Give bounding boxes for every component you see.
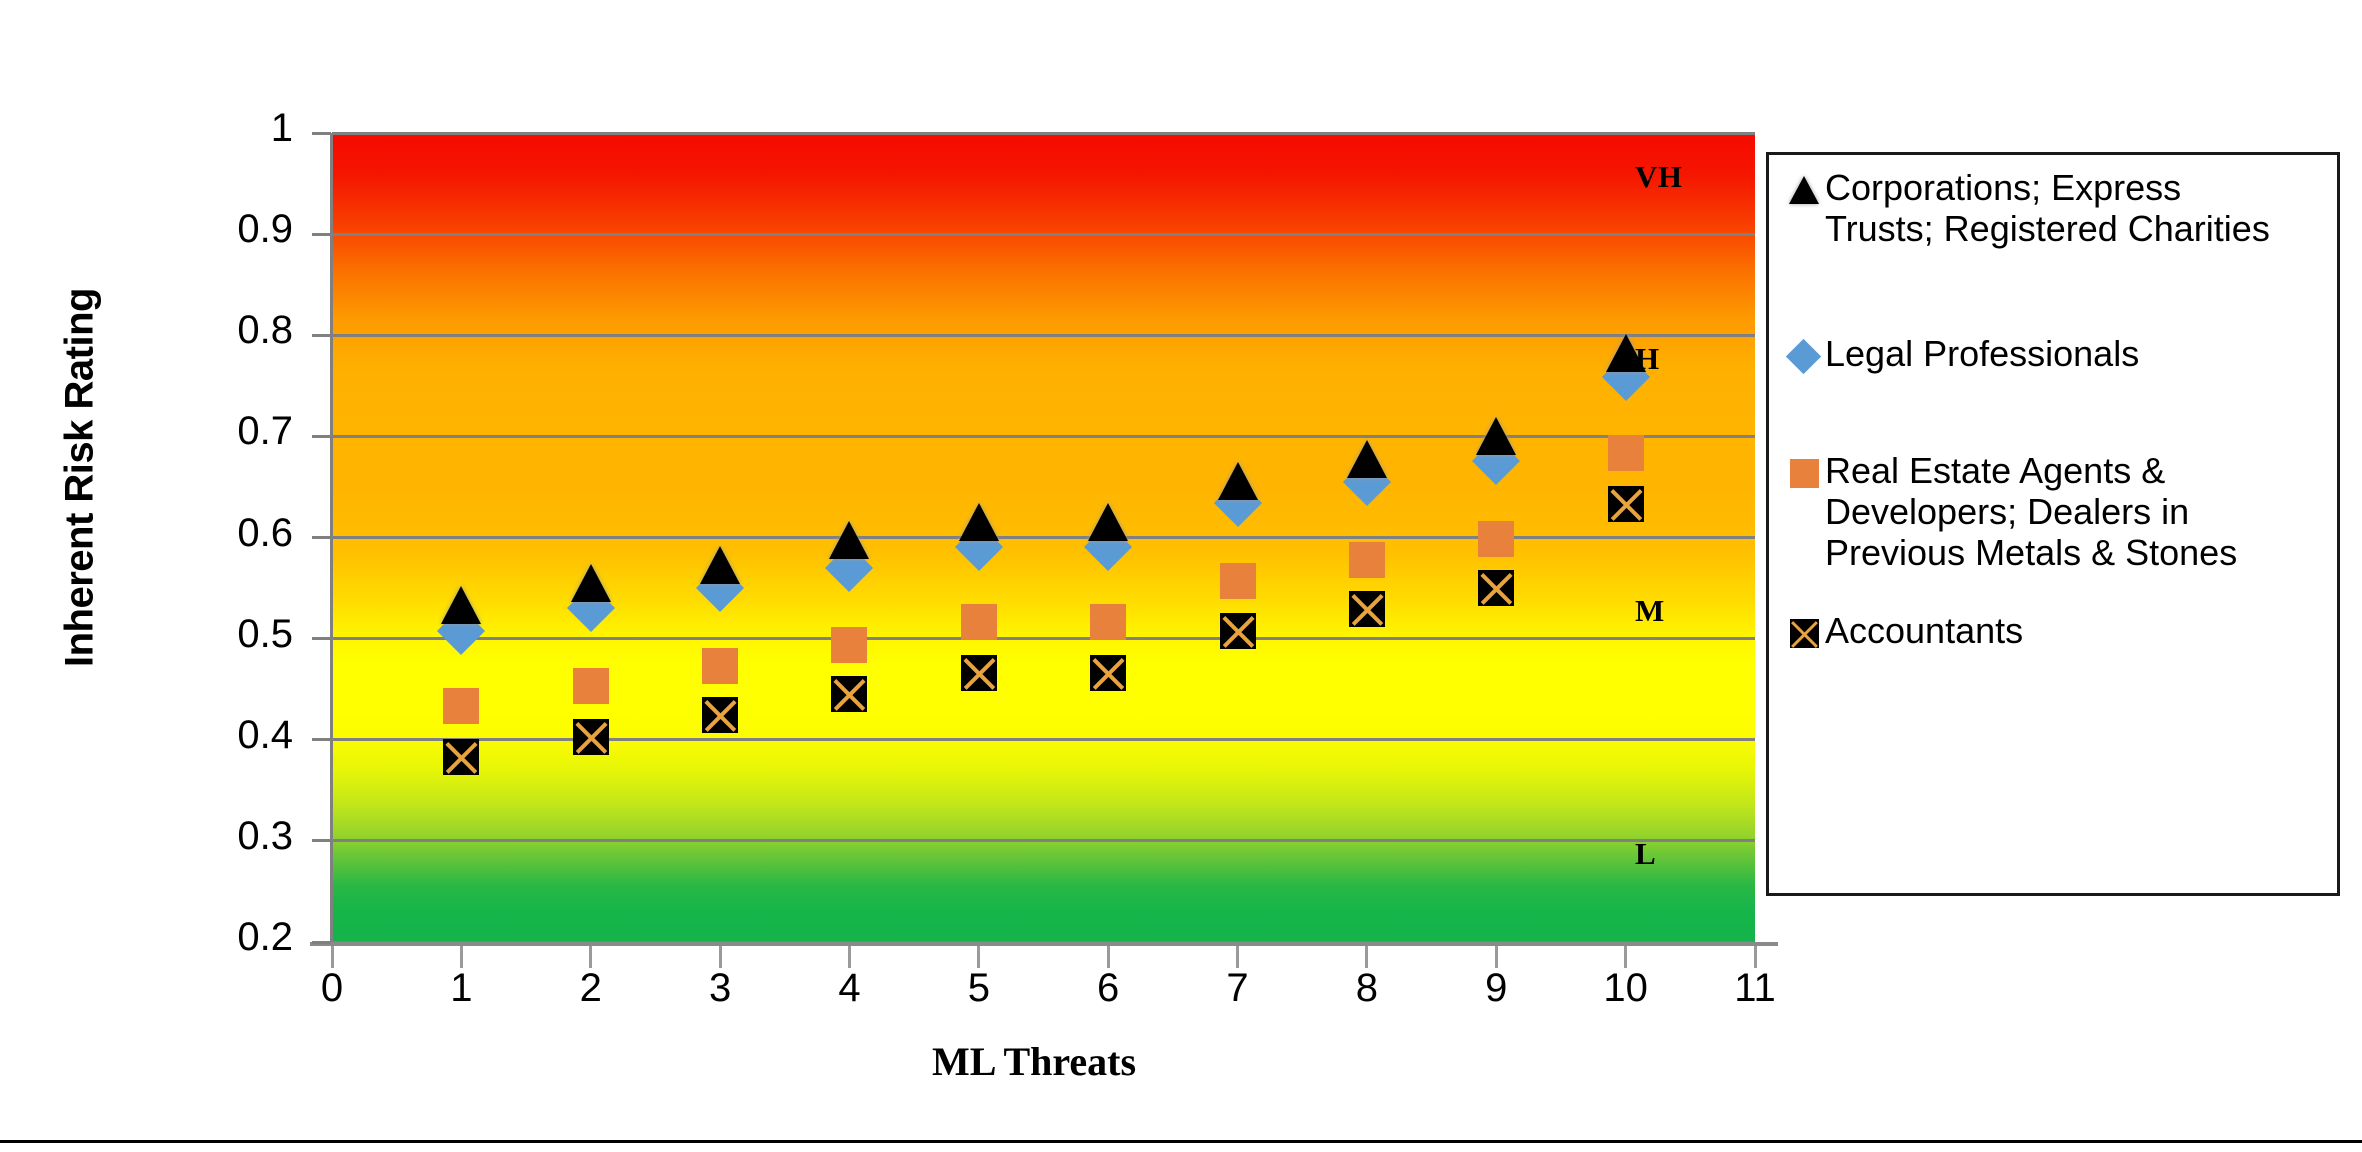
marker-square xyxy=(1478,521,1514,557)
x-square-marker-icon xyxy=(1787,614,1821,648)
y-axis-tick-label: 0.7 xyxy=(237,409,293,454)
y-axis-tick xyxy=(312,334,331,337)
legend-item[interactable]: Legal Professionals xyxy=(1787,333,2325,374)
legend-item[interactable]: Corporations; Express Trusts; Registered… xyxy=(1787,167,2325,249)
legend-item-label: Legal Professionals xyxy=(1825,333,2139,374)
x-axis-tick xyxy=(460,946,463,968)
marker-x-square xyxy=(1608,486,1644,522)
marker-square xyxy=(443,688,479,724)
y-axis-tick xyxy=(312,738,331,741)
marker-x-square xyxy=(443,739,479,775)
gridline xyxy=(332,435,1755,438)
y-axis-tick xyxy=(312,839,331,842)
marker-square xyxy=(1349,542,1385,578)
marker-square xyxy=(831,627,867,663)
legend-item-label: Accountants xyxy=(1825,610,2023,651)
legend-item[interactable]: Real Estate Agents & Developers; Dealers… xyxy=(1787,450,2325,573)
gridline xyxy=(332,536,1755,539)
x-axis-tick-label: 2 xyxy=(551,966,631,1011)
risk-band-label-vh: VH xyxy=(1635,159,1683,195)
x-axis-tick-label: 4 xyxy=(809,966,889,1011)
marker-x-square xyxy=(1220,613,1256,649)
y-axis-tick xyxy=(312,536,331,539)
x-axis-tick xyxy=(1754,946,1757,968)
y-axis-tick xyxy=(312,435,331,438)
square-marker-icon-shape xyxy=(1790,459,1819,488)
marker-square xyxy=(961,604,997,640)
x-axis-tick xyxy=(1365,946,1368,968)
y-axis-tick xyxy=(312,233,331,236)
gridline xyxy=(332,738,1755,741)
diamond-marker-icon-shape xyxy=(1786,339,1821,374)
marker-triangle xyxy=(1218,462,1258,500)
y-axis-title: Inherent Risk Rating xyxy=(58,198,103,758)
marker-x-square xyxy=(1478,570,1514,606)
plot-area: VHHML xyxy=(332,133,1755,942)
y-axis-line xyxy=(330,133,333,945)
gridline xyxy=(332,132,1755,135)
x-axis-tick-label: 1 xyxy=(421,966,501,1011)
marker-x-square xyxy=(573,719,609,755)
risk-scatter-chart: Inherent Risk Rating ML Threats VHHML 0.… xyxy=(0,0,2362,1152)
y-axis-tick-label: 0.9 xyxy=(237,207,293,252)
x-axis-tick-label: 9 xyxy=(1456,966,1536,1011)
marker-x-square xyxy=(1090,655,1126,691)
x-axis-tick xyxy=(1236,946,1239,968)
x-axis-tick-label: 3 xyxy=(680,966,760,1011)
triangle-marker-icon xyxy=(1787,171,1821,205)
x-square-marker-icon-shape xyxy=(1790,619,1819,648)
x-axis-tick-label: 11 xyxy=(1715,966,1795,1011)
marker-square xyxy=(573,668,609,704)
legend-item-label: Real Estate Agents & Developers; Dealers… xyxy=(1825,450,2237,573)
x-axis-tick-label: 10 xyxy=(1586,966,1666,1011)
marker-x-square xyxy=(702,697,738,733)
x-axis-tick xyxy=(1624,946,1627,968)
marker-square xyxy=(1608,435,1644,471)
x-axis-tick-label: 5 xyxy=(939,966,1019,1011)
marker-x-square xyxy=(831,676,867,712)
gridline xyxy=(332,839,1755,842)
y-axis-tick-label: 0.6 xyxy=(237,511,293,556)
triangle-marker-icon-shape xyxy=(1789,176,1819,204)
gridline xyxy=(332,637,1755,640)
marker-square xyxy=(1090,604,1126,640)
marker-triangle xyxy=(1088,503,1128,541)
y-axis-tick-label: 0.4 xyxy=(237,713,293,758)
square-marker-icon xyxy=(1787,454,1821,488)
marker-triangle xyxy=(1476,417,1516,455)
marker-triangle xyxy=(1347,440,1387,478)
y-axis-tick-label: 0.2 xyxy=(237,915,293,960)
marker-triangle xyxy=(700,546,740,584)
x-axis-tick xyxy=(589,946,592,968)
gridline xyxy=(332,233,1755,236)
x-axis-tick-label: 6 xyxy=(1068,966,1148,1011)
marker-x-square xyxy=(1349,591,1385,627)
x-axis-title: ML Threats xyxy=(313,1038,1755,1085)
y-axis-tick-label: 1 xyxy=(271,106,293,151)
x-axis-tick xyxy=(331,946,334,968)
x-axis-tick xyxy=(1107,946,1110,968)
y-axis-tick xyxy=(312,637,331,640)
marker-triangle xyxy=(441,586,481,624)
marker-square xyxy=(1220,563,1256,599)
x-axis-tick xyxy=(977,946,980,968)
legend-item[interactable]: Accountants xyxy=(1787,610,2325,651)
risk-band-label-m: M xyxy=(1635,593,1665,629)
y-axis-tick-label: 0.3 xyxy=(237,814,293,859)
diamond-marker-icon xyxy=(1787,337,1821,371)
x-axis-tick xyxy=(1495,946,1498,968)
x-axis-tick-label: 8 xyxy=(1327,966,1407,1011)
marker-triangle xyxy=(829,521,869,559)
marker-triangle xyxy=(959,503,999,541)
risk-band-label-l: L xyxy=(1635,836,1656,872)
x-axis-tick-label: 0 xyxy=(292,966,372,1011)
figure-bottom-rule xyxy=(0,1140,2362,1143)
gridline xyxy=(332,334,1755,337)
marker-x-square xyxy=(961,655,997,691)
marker-square xyxy=(702,648,738,684)
marker-triangle xyxy=(571,564,611,602)
x-axis-line xyxy=(310,942,1778,946)
y-axis-tick-label: 0.5 xyxy=(237,612,293,657)
y-axis-tick xyxy=(312,941,331,944)
y-axis-tick-label: 0.8 xyxy=(237,308,293,353)
legend-item-label: Corporations; Express Trusts; Registered… xyxy=(1825,167,2270,249)
x-axis-tick xyxy=(848,946,851,968)
legend-box: Corporations; Express Trusts; Registered… xyxy=(1766,152,2340,896)
y-axis-tick xyxy=(312,132,331,135)
risk-band-label-h: H xyxy=(1635,341,1660,377)
x-axis-tick-label: 7 xyxy=(1198,966,1278,1011)
x-axis-tick xyxy=(719,946,722,968)
